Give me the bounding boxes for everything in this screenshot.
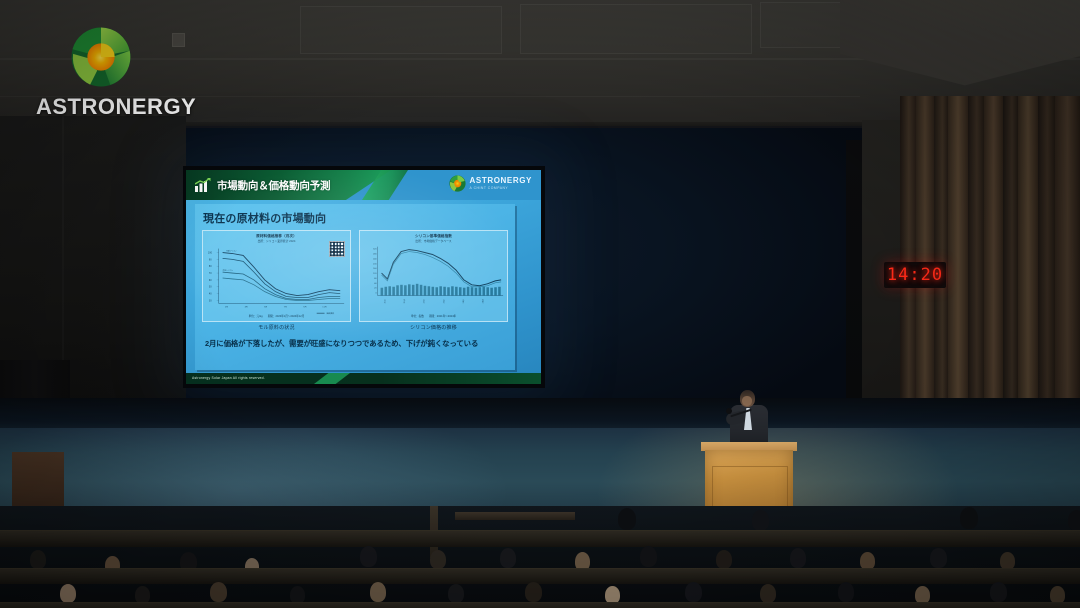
svg-text:160: 160 bbox=[373, 268, 377, 270]
slide-body: 現在の原材料の市場動向 原材料価格推移（月次） 出所：シリコン業界統計 2024 bbox=[195, 204, 515, 370]
slide-header: 市場動向＆価格動向予測 bbox=[186, 170, 541, 200]
svg-text:N型シリコン: N型シリコン bbox=[227, 249, 237, 253]
svg-text:24Q4: 24Q4 bbox=[482, 299, 484, 303]
audience-member bbox=[618, 508, 636, 530]
astronergy-pinwheel-logo-icon bbox=[70, 26, 132, 88]
audience-member bbox=[838, 582, 854, 602]
svg-text:21Q1: 21Q1 bbox=[384, 299, 386, 303]
audience-member bbox=[525, 582, 542, 602]
chart-card-left: 原材料価格推移（月次） 出所：シリコン業界統計 2024 bbox=[202, 230, 351, 322]
chart-row: 原材料価格推移（月次） 出所：シリコン業界統計 2024 bbox=[202, 230, 508, 322]
slide-header-title: 市場動向＆価格動向予測 bbox=[217, 178, 330, 193]
svg-text:70: 70 bbox=[209, 272, 212, 275]
audience-member bbox=[210, 582, 227, 602]
audience-member bbox=[500, 548, 516, 568]
audience-member bbox=[370, 582, 386, 602]
svg-text:1月: 1月 bbox=[225, 304, 228, 308]
svg-text:9月: 9月 bbox=[303, 304, 306, 308]
svg-text:3月: 3月 bbox=[245, 304, 248, 308]
chart-left-footnote: 単位：元/kg 期間：2023年1月〜2024年12月 bbox=[203, 314, 350, 318]
svg-text:23Q2: 23Q2 bbox=[443, 299, 445, 303]
brand-name: ASTRONERGY bbox=[36, 94, 206, 120]
astronergy-pinwheel-logo-icon bbox=[449, 175, 466, 192]
slide-subtitle: 現在の原材料の市場動向 bbox=[203, 210, 326, 226]
stage-backdrop bbox=[0, 398, 1080, 432]
audience-member bbox=[430, 550, 446, 569]
svg-text:100: 100 bbox=[208, 252, 213, 255]
svg-text:60: 60 bbox=[209, 279, 212, 282]
caption-left: モル原料の状況 bbox=[202, 324, 351, 331]
slide-logo-name: ASTRONERGY bbox=[470, 177, 532, 185]
audience-member bbox=[760, 584, 776, 603]
audience-member bbox=[685, 582, 702, 602]
svg-text:11月: 11月 bbox=[322, 304, 326, 308]
chart-right-plot: 320280 240200 160120 8040 200 bbox=[360, 231, 507, 321]
audience-member bbox=[30, 550, 46, 569]
audience-member bbox=[1068, 510, 1080, 531]
chart-captions: モル原料の状況 シリコン価格の推移 bbox=[202, 324, 508, 331]
slide-note: 2月に価格が下落したが、需要が旺盛になりつつであるため、下げが鈍くなっている bbox=[205, 338, 478, 349]
svg-text:21Q4: 21Q4 bbox=[404, 299, 406, 303]
audience-area bbox=[0, 506, 1080, 608]
svg-text:40: 40 bbox=[374, 283, 377, 285]
slide-logo-tagline: A CHINT COMPANY bbox=[470, 187, 532, 190]
chart-left-plot: 10090 8070 6050 4030 bbox=[203, 231, 350, 321]
svg-text:5月: 5月 bbox=[264, 304, 267, 308]
audience-member bbox=[752, 510, 769, 531]
chart-card-right: シリコン基準価格指数 出所：市場価格データベース 320280 240200 1… bbox=[359, 230, 508, 322]
digital-clock: 14:20 bbox=[884, 262, 946, 288]
svg-text:240: 240 bbox=[373, 258, 377, 260]
audience-member bbox=[990, 582, 1007, 602]
svg-text:200: 200 bbox=[373, 263, 377, 265]
svg-text:22Q3: 22Q3 bbox=[424, 299, 426, 303]
svg-text:0: 0 bbox=[375, 293, 377, 295]
audience-member bbox=[640, 546, 657, 567]
projection-screen: 市場動向＆価格動向予測 bbox=[183, 166, 545, 388]
audience-member bbox=[60, 584, 76, 603]
slide-footer: Astronergy Solar Japan All rights reserv… bbox=[186, 373, 541, 384]
svg-text:20: 20 bbox=[374, 288, 377, 290]
slide-logo: ASTRONERGY A CHINT COMPANY bbox=[449, 175, 532, 192]
brand-overlay: ASTRONERGY bbox=[36, 26, 206, 120]
audience-member bbox=[790, 548, 806, 568]
audience-member bbox=[716, 550, 732, 569]
svg-text:320: 320 bbox=[373, 249, 377, 251]
chart-growth-icon bbox=[195, 178, 211, 192]
svg-text:40: 40 bbox=[209, 293, 212, 296]
auditorium-photo: 14:20 市場動向＆価格動向予測 bbox=[0, 0, 1080, 608]
audience-member bbox=[448, 584, 464, 603]
svg-text:120: 120 bbox=[373, 273, 377, 275]
svg-text:30: 30 bbox=[209, 299, 212, 302]
caption-right: シリコン価格の推移 bbox=[359, 324, 508, 331]
audience-member bbox=[960, 507, 978, 529]
chart-right-footnote: 単位：指数 期間：2021年〜2024年 bbox=[360, 314, 507, 318]
svg-text:80: 80 bbox=[374, 278, 377, 280]
presentation-slide: 市場動向＆価格動向予測 bbox=[186, 170, 541, 384]
svg-text:再生シリコン: 再生シリコン bbox=[223, 268, 234, 272]
clock-time: 14:20 bbox=[887, 265, 943, 285]
slide-copyright: Astronergy Solar Japan All rights reserv… bbox=[192, 376, 265, 380]
qr-code bbox=[329, 241, 345, 257]
svg-text:50: 50 bbox=[209, 286, 212, 289]
svg-text:280: 280 bbox=[373, 253, 377, 255]
svg-text:24Q1: 24Q1 bbox=[463, 299, 465, 303]
svg-text:90: 90 bbox=[209, 258, 212, 261]
audience-member bbox=[360, 546, 377, 567]
svg-text:80: 80 bbox=[209, 265, 212, 268]
svg-text:7月: 7月 bbox=[284, 304, 287, 308]
audience-member bbox=[930, 548, 947, 568]
